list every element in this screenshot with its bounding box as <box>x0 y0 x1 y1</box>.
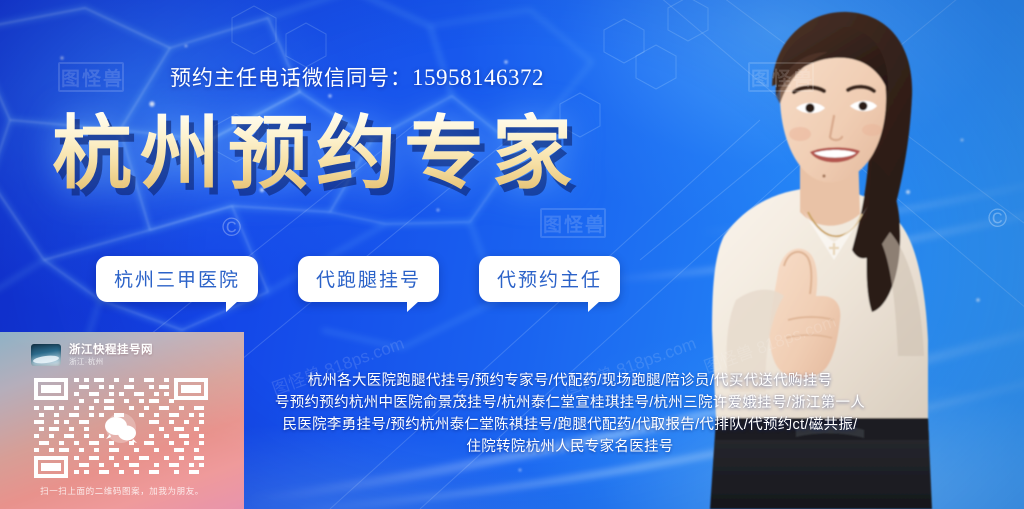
service-bubble-group: 杭州三甲医院 代跑腿挂号 代预约主任 <box>96 256 620 302</box>
brand-watermark-2: 图怪兽 <box>751 64 814 91</box>
description-line-2: 号预约预约杭州中医院俞景茂挂号/杭州泰仁堂宣桂琪挂号/杭州三院许爱娥挂号/浙江第… <box>250 392 890 414</box>
wechat-qr-card[interactable]: 浙江快程挂号网 浙江·杭州 <box>0 332 244 509</box>
page-title: 杭州预约专家 <box>52 112 580 196</box>
service-description: 杭州各大医院跑腿代挂号/预约专家号/代配药/现场跑腿/陪诊员/代买代送代购挂号 … <box>250 370 890 458</box>
qr-card-header: 浙江快程挂号网 浙江·杭州 <box>31 343 153 367</box>
description-line-1: 杭州各大医院跑腿代挂号/预约专家号/代配药/现场跑腿/陪诊员/代买代送代购挂号 <box>250 370 890 392</box>
description-line-4: 住院转院杭州人民专家名医挂号 <box>250 436 890 458</box>
brand-watermark: 图怪兽 <box>61 64 124 91</box>
description-line-3: 民医院李勇挂号/预约杭州泰仁堂陈祺挂号/跑腿代配药/代取报告/代排队/代预约ct… <box>250 414 890 436</box>
poster-canvas: 图怪兽 图怪兽 图怪兽 图怪兽 图怪兽 818ps.com 图怪兽 818ps.… <box>0 0 1024 509</box>
brand-watermark-3: 图怪兽 <box>543 210 606 237</box>
bubble-errand-registration[interactable]: 代跑腿挂号 <box>298 256 439 302</box>
copyright-icon-left: © <box>222 214 241 240</box>
qr-account-name: 浙江快程挂号网 <box>69 343 153 357</box>
qr-card-caption: 扫一扫上面的二维码图案，加我为朋友。 <box>0 485 244 497</box>
phone-number: 15958146372 <box>412 65 544 90</box>
wechat-qr-icon[interactable] <box>32 376 210 481</box>
qr-account-location: 浙江·杭州 <box>69 357 153 367</box>
contact-headline: 预约主任电话微信同号：15958146372 <box>170 62 544 92</box>
bubble-hospital[interactable]: 杭州三甲医院 <box>96 256 258 302</box>
bubble-director-appointment[interactable]: 代预约主任 <box>479 256 620 302</box>
copyright-icon-right: © <box>988 205 1007 231</box>
wechat-avatar-icon <box>31 344 61 366</box>
contact-label: 预约主任电话微信同号： <box>170 67 412 90</box>
